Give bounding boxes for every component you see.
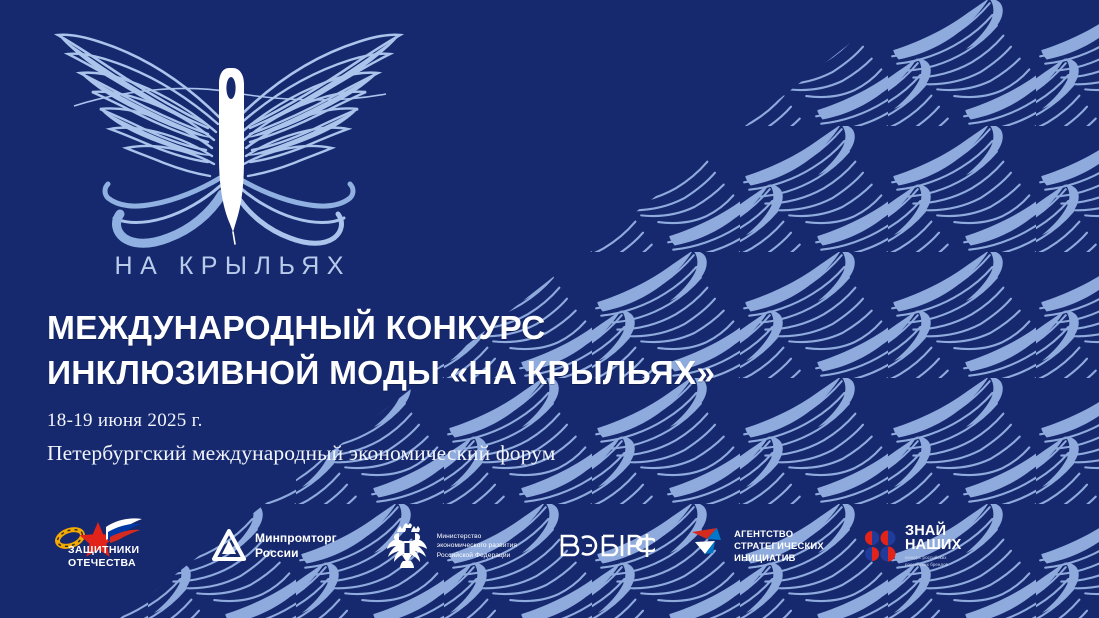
event-date: 18-19 июня 2025 г. — [47, 407, 555, 436]
partner-label-asi: АГЕНТСТВО СТРАТЕГИЧЕСКИХ ИНИЦИАТИВ — [734, 528, 824, 565]
winged-needle-logo-icon — [34, 8, 424, 253]
partner-label-minpromtorg: Минпромторг России — [255, 531, 337, 561]
partner-label-znay-nashikh: ЗНАЙ НАШИХ — [905, 524, 962, 553]
tricolor-arrow-icon — [691, 526, 727, 566]
four-circles-icon — [864, 529, 898, 563]
partner-logo-defenders[interactable]: ЗАЩИТНИКИ ОТЕЧЕСТВА — [50, 518, 157, 574]
event-venue: Петербургский международный экономически… — [47, 438, 555, 469]
partner-logo-veb-rf[interactable] — [559, 518, 655, 574]
partner-logo-asi[interactable]: АГЕНТСТВО СТРАТЕГИЧЕСКИХ ИНИЦИАТИВ — [691, 518, 824, 574]
page-title: МЕЖДУНАРОДНЫЙ КОНКУРС ИНКЛЮЗИВНОЙ МОДЫ «… — [47, 307, 715, 396]
partner-logo-mineconom[interactable]: Министерство экономического развития Рос… — [385, 518, 517, 574]
partner-text-znay: ЗНАЙ НАШИХ конкурс российских российских… — [905, 524, 962, 568]
logo-lockup: НА КРЫЛЬЯХ — [34, 8, 424, 300]
poster-canvas: НА КРЫЛЬЯХ МЕЖДУНАРОДНЫЙ КОНКУРС ИНКЛЮЗИ… — [0, 0, 1099, 618]
partner-logo-znay-nashikh[interactable]: ЗНАЙ НАШИХ конкурс российских российских… — [864, 518, 962, 574]
partner-logo-minpromtorg[interactable]: Минпромторг России — [212, 518, 337, 574]
partner-label-defenders: ЗАЩИТНИКИ ОТЕЧЕСТВА — [68, 544, 140, 570]
logo-wordmark: НА КРЫЛЬЯХ — [34, 254, 424, 279]
event-info: 18-19 июня 2025 г. Петербургский междуна… — [47, 407, 555, 469]
partner-label-mineconom: Министерство экономического развития Рос… — [437, 532, 517, 561]
veb-rf-wordmark-icon — [559, 532, 655, 560]
partner-logo-strip: ЗАЩИТНИКИ ОТЕЧЕСТВА Минпромторг России — [50, 512, 962, 580]
double-headed-eagle-icon — [385, 523, 429, 569]
partner-sublabel-znay-nashikh: конкурс российских российских брендов — [905, 555, 962, 568]
needle-icon — [219, 68, 244, 244]
triangle-emblem-icon — [212, 529, 246, 563]
